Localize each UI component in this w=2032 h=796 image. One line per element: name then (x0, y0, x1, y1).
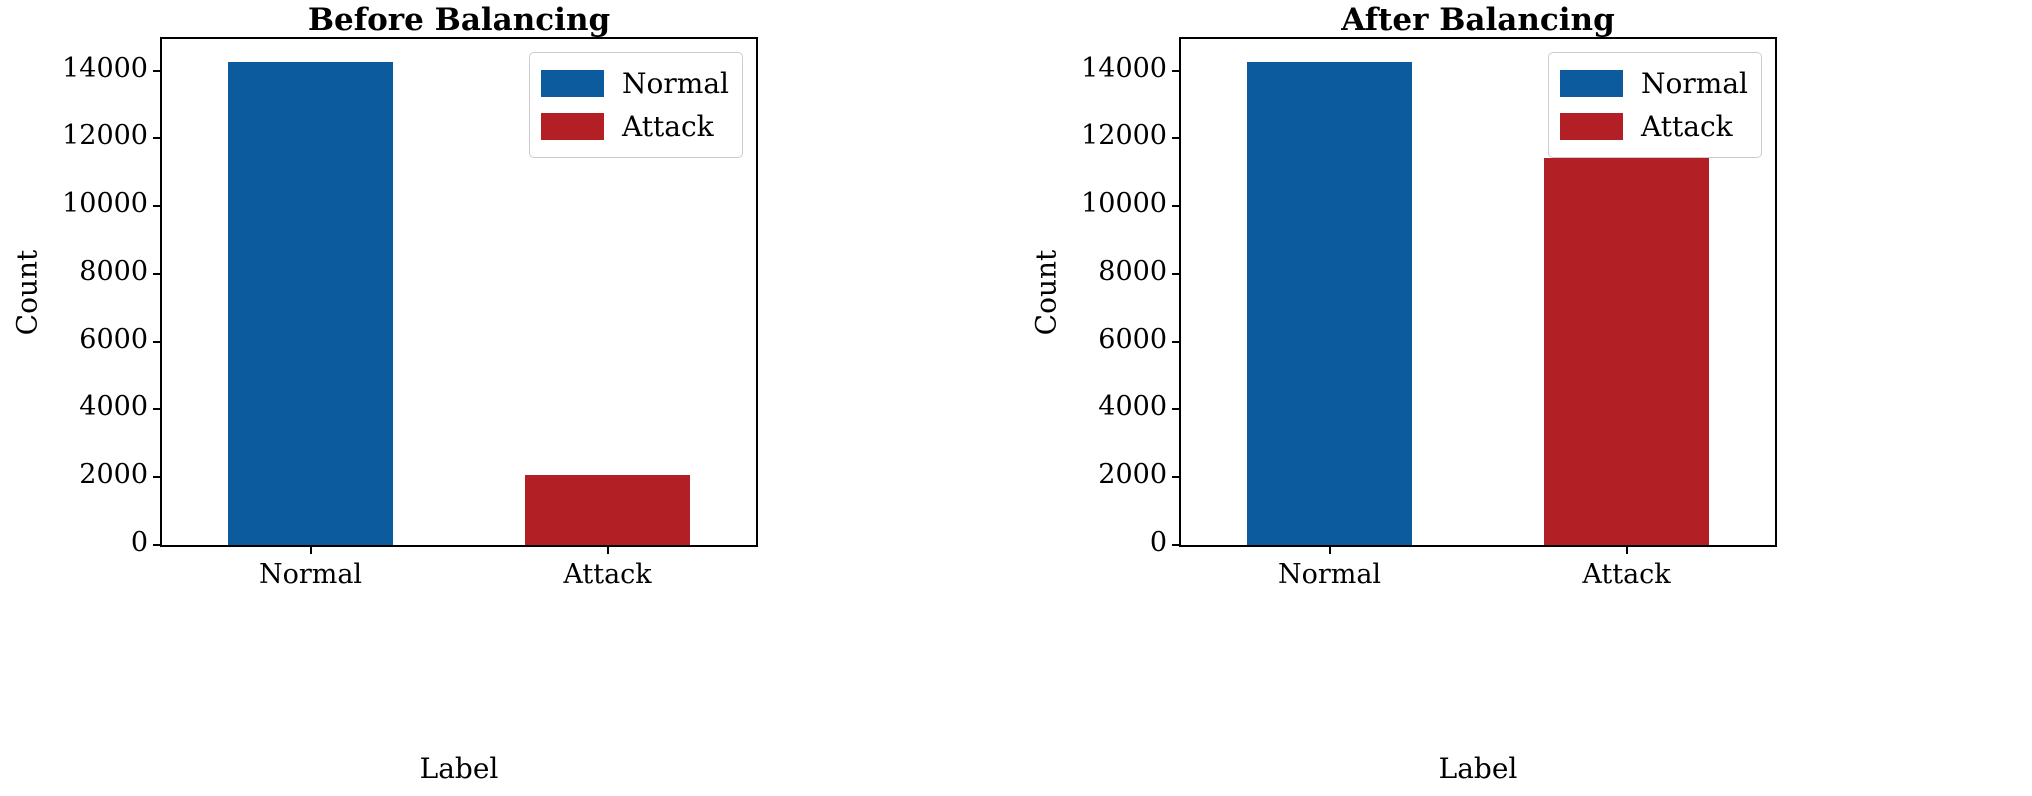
chart-title: After Balancing (1179, 2, 1777, 38)
y-tick-label: 14000 (62, 53, 148, 84)
x-tick-line (1626, 545, 1628, 554)
x-tick-line (1329, 545, 1331, 554)
chart-panel-before: Before Balancing Count 02000400060008000… (0, 0, 1016, 796)
y-tick-line (1172, 476, 1181, 478)
legend-label-attack: Attack (622, 110, 714, 143)
legend-label-normal: Normal (622, 67, 729, 100)
y-tick-label: 8000 (1098, 256, 1167, 287)
plot-area: 02000400060008000100001200014000 NormalA… (1179, 37, 1777, 547)
y-tick-label: 12000 (62, 120, 148, 151)
y-tick-line (1172, 70, 1181, 72)
legend-label-normal: Normal (1641, 67, 1748, 100)
x-tick-label: Normal (181, 559, 441, 590)
legend-item-normal: Normal (1560, 62, 1748, 105)
x-tick-label: Attack (478, 559, 738, 590)
legend: Normal Attack (1548, 52, 1762, 158)
y-tick-label: 4000 (79, 391, 148, 422)
y-tick-line (1172, 544, 1181, 546)
plot-area: 02000400060008000100001200014000 NormalA… (160, 37, 758, 547)
legend-swatch-normal-icon (1560, 70, 1623, 97)
y-tick-line (153, 137, 162, 139)
y-tick-label: 6000 (79, 324, 148, 355)
legend-swatch-attack-icon (1560, 113, 1623, 140)
chart-title: Before Balancing (160, 2, 758, 38)
y-tick-line (1172, 408, 1181, 410)
y-tick-label: 8000 (79, 256, 148, 287)
legend-item-attack: Attack (541, 105, 729, 148)
y-tick-label: 6000 (1098, 324, 1167, 355)
y-tick-label: 2000 (79, 459, 148, 490)
y-tick-label: 10000 (1081, 188, 1167, 219)
y-tick-label: 12000 (1081, 120, 1167, 151)
y-tick-label: 0 (131, 527, 148, 558)
y-axis-label: Count (1030, 233, 1063, 353)
y-tick-label: 0 (1150, 527, 1167, 558)
legend-label-attack: Attack (1641, 110, 1733, 143)
chart-panel-after: After Balancing Count 020004000600080001… (1016, 0, 2032, 796)
x-tick-label: Normal (1200, 559, 1460, 590)
y-tick-line (153, 476, 162, 478)
bar-attack (525, 475, 689, 545)
x-tick-line (607, 545, 609, 554)
legend: Normal Attack (529, 52, 743, 158)
bar-attack (1544, 158, 1708, 545)
y-tick-line (153, 70, 162, 72)
legend-item-attack: Attack (1560, 105, 1748, 148)
legend-swatch-normal-icon (541, 70, 604, 97)
y-tick-line (1172, 137, 1181, 139)
y-tick-line (1172, 341, 1181, 343)
x-axis-label: Label (160, 752, 758, 785)
figure-canvas: Before Balancing Count 02000400060008000… (0, 0, 2032, 796)
x-tick-label: Attack (1497, 559, 1757, 590)
y-tick-label: 2000 (1098, 459, 1167, 490)
y-tick-line (153, 205, 162, 207)
y-tick-label: 4000 (1098, 391, 1167, 422)
y-tick-label: 14000 (1081, 53, 1167, 84)
y-tick-line (1172, 273, 1181, 275)
x-axis-label: Label (1179, 752, 1777, 785)
x-tick-line (310, 545, 312, 554)
legend-swatch-attack-icon (541, 113, 604, 140)
y-tick-label: 10000 (62, 188, 148, 219)
y-tick-line (1172, 205, 1181, 207)
legend-item-normal: Normal (541, 62, 729, 105)
bar-normal (1247, 62, 1411, 545)
y-tick-line (153, 273, 162, 275)
y-tick-line (153, 341, 162, 343)
y-tick-line (153, 408, 162, 410)
y-axis-label: Count (11, 233, 44, 353)
y-tick-line (153, 544, 162, 546)
bar-normal (228, 62, 392, 545)
